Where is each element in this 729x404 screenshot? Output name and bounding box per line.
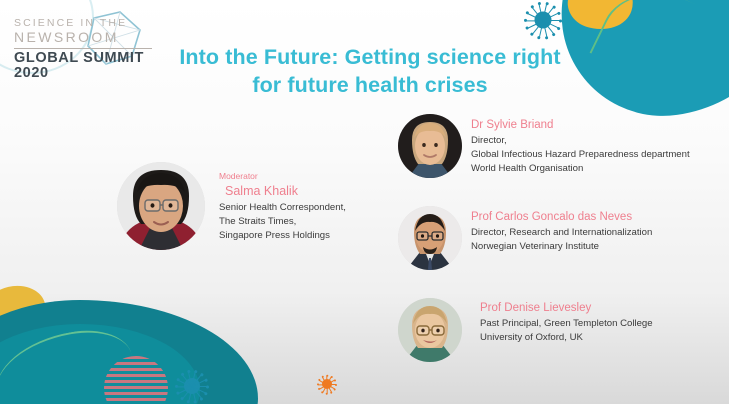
virus-icon-orange-bottom xyxy=(317,374,337,394)
logo-divider xyxy=(14,48,152,49)
moderator-detail-3: Singapore Press Holdings xyxy=(219,229,384,243)
blob-teal-bottom-left xyxy=(0,300,258,404)
wedge-yellow-top-right xyxy=(562,0,641,38)
wedge-yellow-bottom-left xyxy=(0,280,51,344)
presentation-slide: SCIENCE IN THE NEWSROOM GLOBAL SUMMIT 20… xyxy=(0,0,729,404)
logo-line-3: GLOBAL SUMMIT 2020 xyxy=(14,51,160,81)
logo-line-2: NEWSROOM xyxy=(14,30,160,45)
speaker-1-detail-2: Global Infectious Hazard Preparedness de… xyxy=(471,148,723,162)
moderator-name: Salma Khalik xyxy=(219,182,384,201)
speaker-3-detail-1: Past Principal, Green Templeton College xyxy=(480,317,724,331)
speaker-3-info: Prof Denise Lievesley Past Principal, Gr… xyxy=(480,300,724,345)
logo-line-1: SCIENCE IN THE xyxy=(14,18,160,29)
speaker-2-detail-1: Director, Research and Internationalizat… xyxy=(471,226,723,240)
moderator-detail-2: The Straits Times, xyxy=(219,215,384,229)
speaker-2-detail-2: Norwegian Veterinary Institute xyxy=(471,240,723,254)
virus-icon-teal-top xyxy=(525,2,561,38)
virus-icon-teal-bottom-left xyxy=(176,370,208,402)
speaker-1-info: Dr Sylvie Briand Director, Global Infect… xyxy=(471,117,723,176)
speaker-2-name: Prof Carlos Goncalo das Neves xyxy=(471,209,723,226)
moderator-role-label: Moderator xyxy=(219,171,384,182)
event-logo: SCIENCE IN THE NEWSROOM GLOBAL SUMMIT 20… xyxy=(8,6,160,78)
avatar-speaker-3 xyxy=(398,298,462,362)
avatar-moderator xyxy=(117,162,205,250)
speaker-2-info: Prof Carlos Goncalo das Neves Director, … xyxy=(471,209,723,254)
slide-title: Into the Future: Getting science right f… xyxy=(164,44,576,99)
slide-title-line-2: for future health crises xyxy=(164,72,576,100)
curve-green-bottom-left xyxy=(0,322,140,404)
striped-circle-pink xyxy=(104,356,168,404)
moderator-detail-1: Senior Health Correspondent, xyxy=(219,201,384,215)
speaker-1-detail-1: Director, xyxy=(471,134,723,148)
speaker-3-detail-2: University of Oxford, UK xyxy=(480,331,724,345)
curve-green-top-right xyxy=(589,0,729,106)
speaker-1-name: Dr Sylvie Briand xyxy=(471,117,723,134)
moderator-info: Moderator Salma Khalik Senior Health Cor… xyxy=(219,171,384,243)
avatar-speaker-1 xyxy=(398,114,462,178)
avatar-speaker-2 xyxy=(398,206,462,270)
speaker-1-detail-3: World Health Organisation xyxy=(471,162,723,176)
blob-teal-bottom-left-inner xyxy=(0,324,200,404)
speaker-3-name: Prof Denise Lievesley xyxy=(480,300,724,317)
slide-title-line-1: Into the Future: Getting science right xyxy=(164,44,576,72)
